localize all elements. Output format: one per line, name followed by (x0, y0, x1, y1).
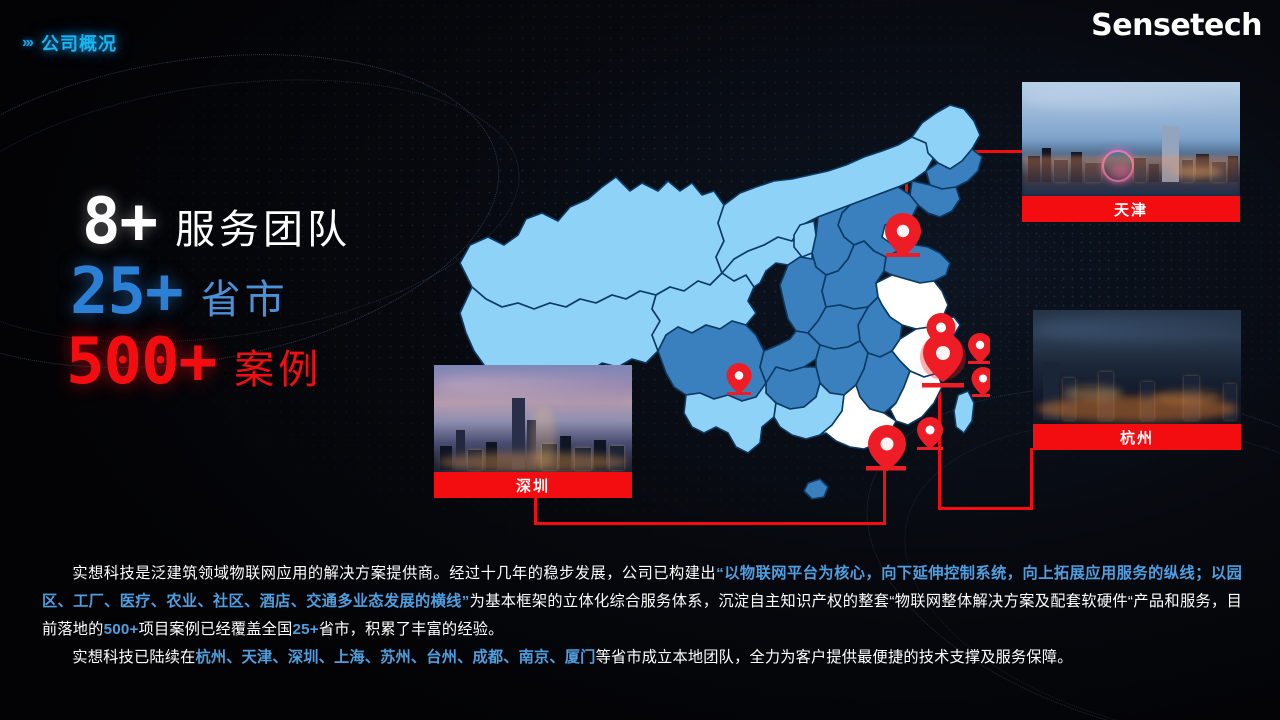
description-paragraphs: 实想科技是泛建筑领域物联网应用的解决方案提供商。经过十几年的稳步发展，公司已构建… (42, 560, 1242, 672)
chevrons-icon: ››› (22, 35, 32, 51)
paragraph-1: 实想科技是泛建筑领域物联网应用的解决方案提供商。经过十几年的稳步发展，公司已构建… (42, 560, 1242, 644)
stat-label: 服务团队 (175, 210, 351, 250)
para1-part-c: 项目案例已经覆盖全国 (139, 621, 293, 638)
stat-item-provinces: 25+ 省市 (70, 260, 351, 324)
map-pin-taizhou[interactable] (972, 367, 991, 397)
connector-hangzhou-vertical (1030, 448, 1033, 510)
para1-part-a: 实想科技是泛建筑领域物联网应用的解决方案提供商。经过十几年的稳步发展，公司已构建… (72, 565, 716, 582)
stat-label: 省市 (201, 280, 289, 320)
region-taiwan (954, 391, 974, 433)
city-card-caption: 天津 (1022, 196, 1240, 222)
page-title-text: 公司概况 (41, 30, 117, 56)
map-pin-shanghai[interactable] (968, 333, 990, 364)
stat-number: 8+ (82, 190, 157, 254)
para2-part-b: 等省市成立本地团队，全力为客户提供最便捷的技术支撑及服务保障。 (596, 649, 1073, 666)
stat-item-cases: 500+ 案例 (66, 330, 351, 394)
region-sichuan (658, 321, 766, 401)
region-hainan (804, 479, 828, 499)
city-card-tianjin[interactable]: 天津 (1022, 82, 1240, 222)
map-pin-xiamen[interactable] (917, 417, 943, 450)
city-card-shenzhen[interactable]: 深圳 (434, 365, 632, 498)
para1-number-provinces: 25+ (292, 621, 318, 638)
stats-block: 8+ 服务团队 25+ 省市 500+ 案例 (70, 190, 351, 400)
para2-city-list: 杭州、天津、深圳、上海、苏州、台州、成都、南京、厦门 (196, 649, 596, 666)
city-photo-tianjin: 天津 (1022, 82, 1240, 222)
region-xinjiang (460, 177, 724, 309)
paragraph-2: 实想科技已陆续在杭州、天津、深圳、上海、苏州、台州、成都、南京、厦门等省市成立本… (42, 644, 1242, 672)
city-photo-shenzhen: 深圳 (434, 365, 632, 498)
stat-label: 案例 (234, 350, 322, 390)
slide-header: ››› 公司概况 Sensetech (0, 0, 1280, 62)
para2-part-a: 实想科技已陆续在 (72, 649, 195, 666)
slide-root: ››› 公司概况 Sensetech 8+ 服务团队 25+ 省市 500+ 案… (0, 0, 1280, 720)
city-card-caption: 深圳 (434, 472, 632, 498)
city-card-hangzhou[interactable]: 杭州 (1033, 310, 1241, 450)
page-title: ››› 公司概况 (22, 30, 117, 56)
stat-number: 25+ (70, 260, 183, 324)
para1-part-d: 省市，积累了丰富的经验。 (319, 621, 504, 638)
city-card-caption: 杭州 (1033, 424, 1241, 450)
stat-number: 500+ (66, 330, 216, 394)
para1-number-cases: 500+ (104, 621, 139, 638)
stat-item-teams: 8+ 服务团队 (82, 190, 351, 254)
brand-logo: Sensetech (1091, 8, 1262, 43)
city-photo-hangzhou: 杭州 (1033, 310, 1241, 450)
